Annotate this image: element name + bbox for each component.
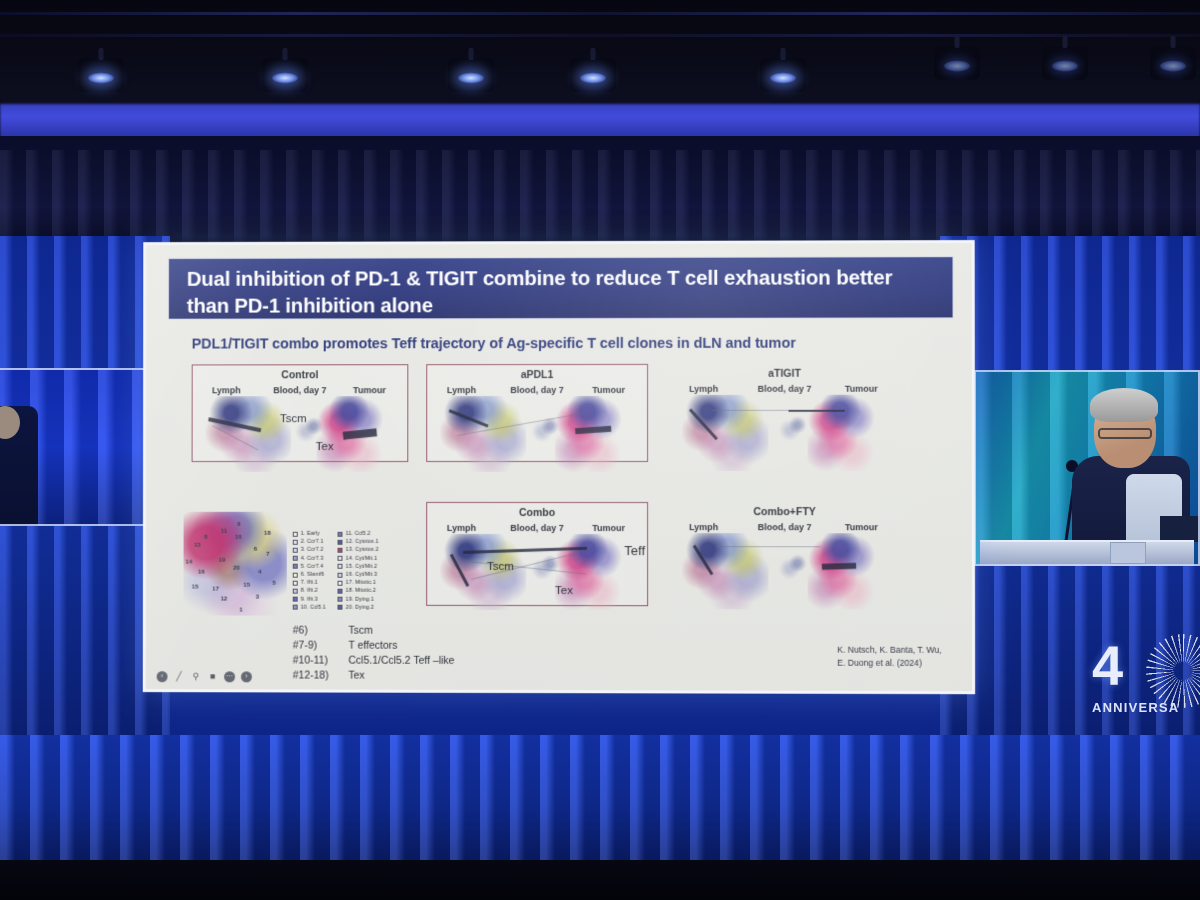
legend-swatch (293, 572, 298, 577)
note-value: Ccl5.1/Ccl5.2 Teff –like (348, 653, 454, 668)
stage-light (1042, 46, 1088, 80)
panel-label-blood: Blood, day 7 (758, 384, 812, 394)
stage-curtain-bottom (0, 735, 1200, 865)
stage-light-wash (0, 104, 1200, 140)
video-icon[interactable]: ■ (207, 671, 218, 682)
legend-label: 4. Ccr7.3 (301, 555, 324, 561)
legend-label: 11. Ccl5.2 (346, 531, 371, 537)
legend-label: 7. Ifit.1 (301, 580, 318, 586)
video-feed-right-speaker (974, 370, 1200, 566)
legend-label: 20. Dying.2 (346, 604, 374, 610)
legend-item: 18. Mitotic.2 (338, 587, 379, 595)
anniversary-number: 4 (1092, 638, 1121, 694)
legend-item: 2. Ccr7.1 (293, 538, 326, 546)
legend-label: 5. Ccr7.4 (301, 564, 324, 570)
legend-swatch (293, 605, 298, 610)
video-feed-left (0, 368, 154, 526)
citation: K. Nutsch, K. Banta, T. Wu, E. Duong et … (837, 644, 942, 669)
slide-title-band: Dual inhibition of PD-1 & TIGIT combine … (168, 256, 954, 320)
annotation-teff: Teff (624, 543, 645, 558)
legend-label: 2. Ccr7.1 (301, 539, 324, 545)
legend-item: 11. Ccl5.2 (338, 530, 379, 538)
legend-swatch (293, 589, 298, 594)
note-value: T effectors (348, 639, 397, 654)
projected-slide: Dual inhibition of PD-1 & TIGIT combine … (143, 240, 975, 694)
legend-label: 6. Slamf6 (301, 572, 325, 578)
legend-label: 15. Cyt/Mit.2 (346, 564, 377, 570)
legend-item: 3. Ccr7.2 (293, 546, 326, 554)
legend-item: 14. Cyt/Mit.1 (338, 554, 379, 562)
starburst-icon (1146, 634, 1200, 708)
legend-swatch (338, 556, 343, 561)
panel-title: aPDL1 (427, 369, 647, 381)
legend-item: 16. Cyt/Mit.3 (338, 571, 379, 579)
presentation-toolbar[interactable]: ‹ ╱ ⚲ ■ ⋯ › (157, 671, 252, 682)
more-options-icon[interactable]: ⋯ (224, 671, 235, 682)
note-key: #12-18) (293, 668, 343, 683)
anniversary-logo: 4 ANNIVERSA (1086, 632, 1200, 724)
slide-subtitle: PDL1/TIGIT combo promotes Teff trajector… (192, 335, 952, 352)
legend-item: 4. Ccr7.3 (293, 554, 326, 562)
legend-item: 5. Ccr7.4 (293, 562, 326, 570)
legend-swatch (293, 564, 298, 569)
legend-swatch (293, 597, 298, 602)
legend-item: 17. Mitotic.1 (338, 579, 379, 587)
citation-line-2: E. Duong et al. (2024) (837, 656, 942, 669)
legend-swatch (338, 531, 343, 536)
umap-cloud-tumour (808, 395, 883, 471)
legend-item: 10. Ccl5.1 (293, 603, 326, 611)
panel-label-tumour: Tumour (592, 385, 625, 395)
legend-label: 17. Mitotic.1 (346, 580, 376, 586)
note-key: #6) (293, 624, 343, 639)
legend-swatch (338, 540, 343, 545)
panel-label-tumour: Tumour (592, 523, 625, 533)
legend-swatch (293, 580, 298, 585)
panel-title: Combo+FTY (668, 506, 901, 518)
legend-item: 9. Ifit.3 (293, 595, 326, 603)
note-key: #7-9) (293, 638, 343, 653)
stage-light (570, 58, 616, 92)
panel-label-tumour: Tumour (845, 522, 878, 532)
legend-label: 14. Cyt/Mit.1 (346, 555, 377, 561)
legend-item: 8. Ifit.2 (293, 587, 326, 595)
stage-light (78, 58, 124, 92)
panel-title: Combo (427, 507, 647, 519)
panel-combo: Combo Lymph Blood, day 7 Tumour Tscm Tef… (426, 502, 648, 606)
lighting-truss (0, 0, 1200, 112)
stage-light (448, 58, 494, 92)
panel-label-lymph: Lymph (689, 522, 718, 532)
forward-arrow-icon[interactable]: › (241, 671, 252, 682)
legend-label: 18. Mitotic.2 (346, 588, 376, 594)
legend-swatch (338, 589, 343, 594)
legend-swatch (338, 548, 343, 553)
umap-reference-map: 9 11 8 10 18 13 6 7 14 19 20 16 4 5 15 1… (183, 512, 286, 616)
annotation-tscm: Tscm (280, 413, 307, 425)
legend-label: 19. Dying.1 (346, 596, 374, 602)
anniversary-word: ANNIVERSA (1092, 700, 1179, 715)
legend-label: 10. Ccl5.1 (301, 604, 326, 610)
panel-combo-fty: Combo+FTY Lymph Blood, day 7 Tumour (668, 502, 901, 607)
legend-item: 6. Slamf6 (293, 571, 326, 579)
legend-column-right: 11. Ccl5.212. Cytotox.113. Cytotox.214. … (338, 530, 379, 612)
panel-label-lymph: Lymph (447, 385, 476, 395)
panel-label-lymph: Lymph (212, 385, 241, 395)
panel-label-blood: Blood, day 7 (758, 522, 812, 532)
legend-item: 1. Early (293, 530, 326, 538)
stage-light (760, 58, 806, 92)
annotation-tex: Tex (316, 441, 334, 453)
legend-swatch (338, 597, 343, 602)
annotation-tscm: Tscm (487, 561, 514, 573)
stage-light (1150, 46, 1196, 80)
legend-swatch (293, 531, 298, 536)
panel-label-tumour: Tumour (845, 384, 878, 394)
cluster-notes: #6)Tscm #7-9)T effectors #10-11)Ccl5.1/C… (293, 624, 455, 684)
stage-light (262, 58, 308, 92)
magnifier-icon[interactable]: ⚲ (190, 671, 201, 682)
legend-column-left: 1. Early2. Ccr7.13. Ccr7.24. Ccr7.35. Cc… (293, 530, 326, 612)
panel-atigit: aTIGIT Lymph Blood, day 7 Tumour (668, 364, 901, 462)
citation-line-1: K. Nutsch, K. Banta, T. Wu, (837, 644, 942, 657)
slide-title: Dual inhibition of PD-1 & TIGIT combine … (187, 264, 935, 320)
stage-floor (0, 860, 1200, 900)
legend-item: 13. Cytotox.2 (338, 546, 379, 554)
legend-label: 12. Cytotox.1 (346, 539, 379, 545)
legend-label: 8. Ifit.2 (301, 588, 318, 594)
panel-title: aTIGIT (668, 368, 901, 380)
panel-control: Control Lymph Blood, day 7 Tumour Tscm T… (192, 364, 409, 462)
panel-label-lymph: Lymph (447, 523, 476, 533)
panel-label-tumour: Tumour (353, 385, 386, 395)
panel-label-lymph: Lymph (689, 384, 718, 394)
panel-apdl1: aPDL1 Lymph Blood, day 7 Tumour (426, 364, 648, 462)
panel-title: Control (193, 369, 408, 381)
stage-scene: 4 ANNIVERSA Dual inhibition of PD-1 & TI… (0, 0, 1200, 900)
stage-light (934, 46, 980, 80)
legend-swatch (338, 564, 343, 569)
panel-label-blood: Blood, day 7 (273, 385, 326, 395)
legend-label: 3. Ccr7.2 (301, 547, 324, 553)
legend-swatch (293, 556, 298, 561)
legend-item: 12. Cytotox.1 (338, 538, 379, 546)
panel-label-blood: Blood, day 7 (510, 385, 563, 395)
legend-label: 9. Ifit.3 (301, 596, 318, 602)
umap-cloud-tumour (808, 533, 883, 609)
panel-label-blood: Blood, day 7 (510, 523, 563, 533)
legend-swatch (338, 605, 343, 610)
legend-swatch (338, 572, 343, 577)
legend-item: 7. Ifit.1 (293, 579, 326, 587)
umap-cloud-lymph (440, 396, 526, 472)
cluster-legend: 1. Early2. Ccr7.13. Ccr7.24. Ccr7.35. Cc… (293, 530, 379, 612)
legend-label: 13. Cytotox.2 (346, 547, 379, 553)
annotation-tex: Tex (555, 585, 573, 597)
legend-label: 1. Early (301, 531, 320, 537)
legend-swatch (293, 548, 298, 553)
note-value: Tex (348, 668, 364, 683)
legend-swatch (338, 580, 343, 585)
umap-cloud-lymph (205, 396, 290, 472)
stage-valance-curtain (0, 150, 1200, 245)
umap-cloud-tumour (555, 396, 629, 472)
legend-item: 19. Dying.1 (338, 595, 379, 603)
umap-cloud-lymph (682, 395, 768, 471)
legend-item: 15. Cyt/Mit.2 (338, 563, 379, 571)
legend-swatch (293, 540, 298, 545)
note-key: #10-11) (293, 653, 343, 668)
legend-label: 16. Cyt/Mit.3 (346, 572, 377, 578)
pen-icon[interactable]: ╱ (174, 671, 185, 682)
back-arrow-icon[interactable]: ‹ (157, 671, 168, 682)
note-value: Tscm (348, 624, 372, 639)
legend-item: 20. Dying.2 (338, 603, 379, 611)
